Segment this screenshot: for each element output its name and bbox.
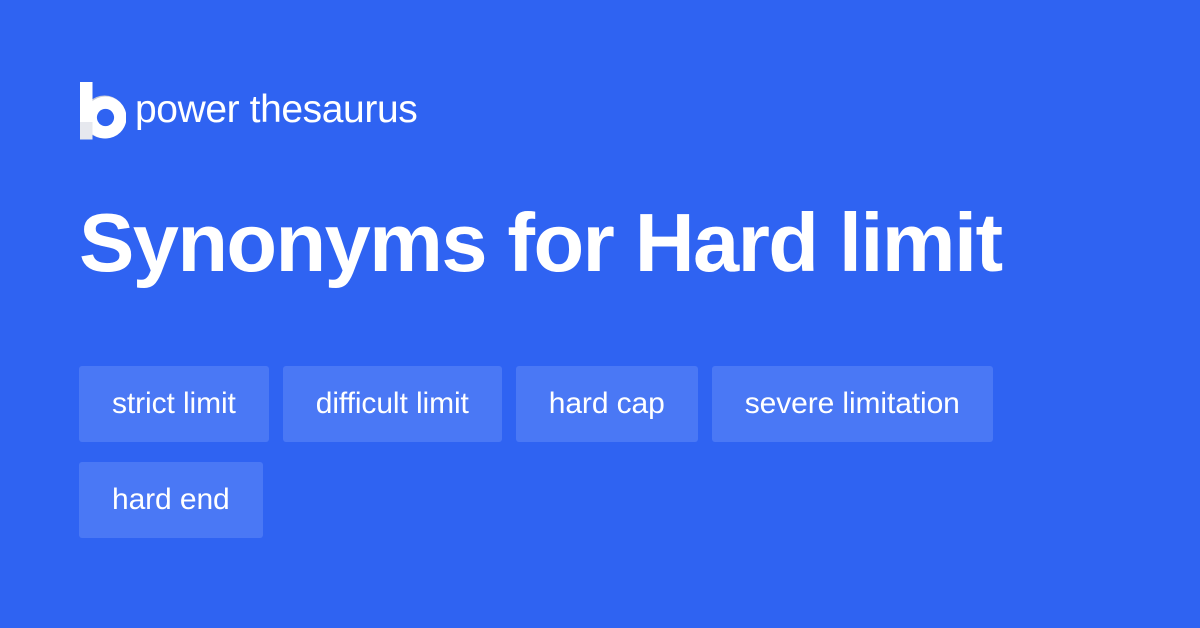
synonym-chip[interactable]: strict limit xyxy=(79,366,269,442)
brand-logo[interactable]: power thesaurus xyxy=(79,80,417,142)
synonym-chip[interactable]: difficult limit xyxy=(283,366,502,442)
brand-name: power thesaurus xyxy=(135,90,417,132)
synonym-chip-list: strict limit difficult limit hard cap se… xyxy=(79,366,1119,538)
synonym-chip[interactable]: hard cap xyxy=(516,366,698,442)
power-thesaurus-b-logo-icon xyxy=(79,82,126,140)
synonym-chip[interactable]: hard end xyxy=(79,462,263,538)
share-card: power thesaurus Synonyms for Hard limit … xyxy=(0,0,1200,628)
synonym-chip[interactable]: severe limitation xyxy=(712,366,993,442)
page-title: Synonyms for Hard limit xyxy=(79,196,1129,290)
